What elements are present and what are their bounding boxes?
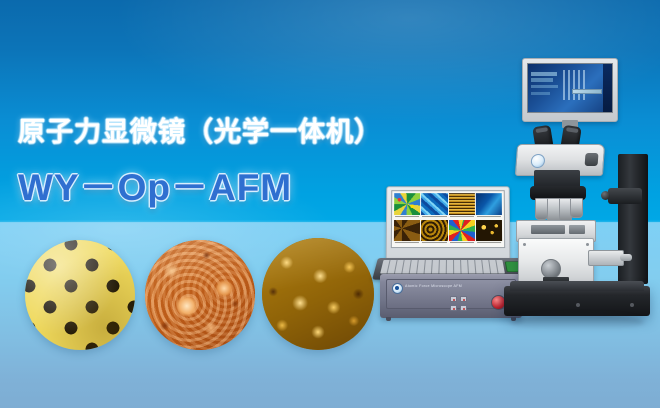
sample-image-grain-surface [262, 238, 374, 350]
base-screw [576, 303, 580, 307]
controller-label: Atomic Force Microscope AFM [405, 284, 462, 288]
polymer-texture [145, 240, 255, 350]
controller-front-panel: Atomic Force Microscope AFM [386, 279, 516, 309]
body-screw [586, 243, 589, 246]
controller-port-grid [450, 296, 467, 311]
stage-slot-secondary [569, 225, 585, 234]
controller-port [460, 296, 467, 302]
screen-panel-d [531, 92, 549, 95]
optical-afm-microscope [500, 58, 660, 338]
base-screw [630, 303, 634, 307]
controller-port [450, 305, 457, 311]
focus-dial[interactable] [541, 259, 561, 279]
controller-feet [384, 317, 518, 321]
laptop-keyboard [380, 260, 505, 274]
camera-port [608, 188, 642, 204]
scan-thumb-3 [448, 193, 474, 218]
microscope-monitor [522, 58, 618, 122]
grain-texture [262, 238, 374, 350]
controller-port [460, 305, 467, 311]
laptop-screen [391, 190, 505, 248]
base-reflection [510, 314, 644, 330]
laptop-lid [386, 186, 511, 266]
sample-image-nanodot-array [25, 240, 135, 350]
screen-side-panel [603, 64, 612, 112]
microscope-monitor-screen [527, 63, 613, 113]
screen-grating-image [563, 70, 585, 100]
body-screw [523, 243, 526, 246]
headline-block: 原子力显微镜（光学一体机） WY－Op－AFM [18, 118, 382, 211]
objective-lens [570, 198, 583, 218]
screen-status-bar [572, 89, 603, 94]
controller-port [450, 296, 457, 302]
screen-panel-c [531, 85, 558, 88]
scan-thumb-6 [421, 220, 447, 246]
stage-slot [531, 225, 565, 234]
scan-thumb-1 [394, 193, 420, 218]
afm-product-banner: 原子力显微镜（光学一体机） WY－Op－AFM [0, 0, 660, 408]
granite-base [504, 286, 650, 316]
sample-image-polymer-topography [145, 240, 255, 350]
microscope-logo-icon [530, 154, 545, 168]
head-adjust-knob[interactable] [585, 153, 599, 166]
scan-thumb-4 [476, 193, 502, 218]
stage-adjust-arm[interactable] [588, 250, 624, 266]
scan-thumb-7 [448, 220, 474, 246]
nanodot-shading [25, 240, 135, 350]
scan-thumb-2 [421, 193, 447, 218]
controller-logo-icon [392, 283, 403, 294]
page-title: 原子力显微镜（光学一体机） [18, 118, 382, 148]
screen-panel-b [531, 78, 553, 81]
screen-panel-a [531, 72, 556, 76]
scan-thumb-5 [394, 220, 420, 246]
product-model-name: WY－Op－AFM [18, 157, 382, 211]
scan-thumb-8 [476, 220, 502, 246]
